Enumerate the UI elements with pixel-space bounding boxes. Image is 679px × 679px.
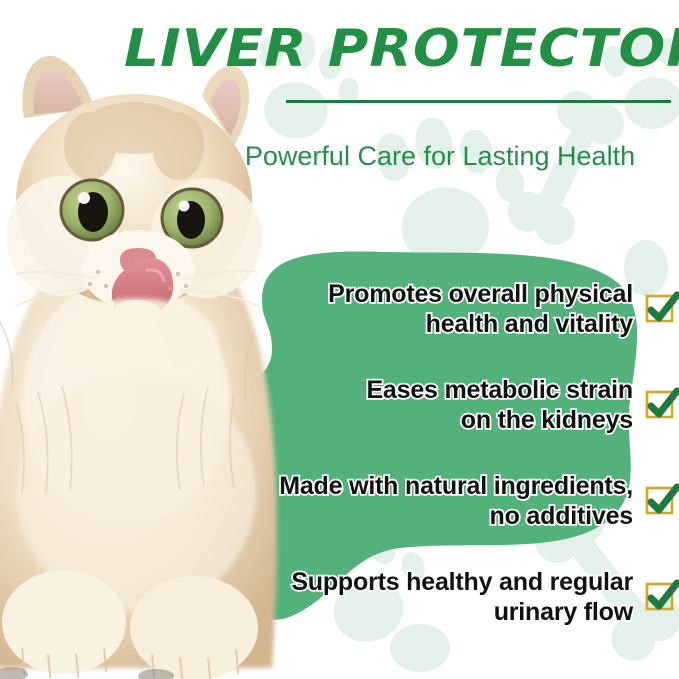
benefit-label: Supports healthy and regular urinary flo… [291,567,633,627]
page-title: LIVER PROTECTOR [124,18,679,80]
benefit-item-urinary-flow: Supports healthy and regular urinary flo… [150,560,679,634]
page-subtitle: Powerful Care for Lasting Health [205,139,675,173]
check-square-icon [643,579,679,615]
product-infographic: LIVER PROTECTOR Powerful Care for Lastin… [0,0,679,679]
benefit-label: Promotes overall physical health and vit… [328,279,633,339]
check-square-icon [643,387,679,423]
benefit-label: Eases metabolic strain on the kidneys [366,375,633,435]
benefit-item-physical-health: Promotes overall physical health and vit… [150,272,679,346]
benefit-label: Made with natural ingredients, no additi… [279,471,633,531]
benefit-item-kidney-strain: Eases metabolic strain on the kidneys [150,368,679,442]
cat-eye-left [61,180,123,240]
check-square-icon [643,483,679,519]
check-square-icon [643,291,679,327]
benefit-list: Promotes overall physical health and vit… [150,272,679,656]
title-divider [286,100,671,103]
benefit-item-natural-ingredients: Made with natural ingredients, no additi… [150,464,679,538]
paw-print-icon [372,106,534,273]
